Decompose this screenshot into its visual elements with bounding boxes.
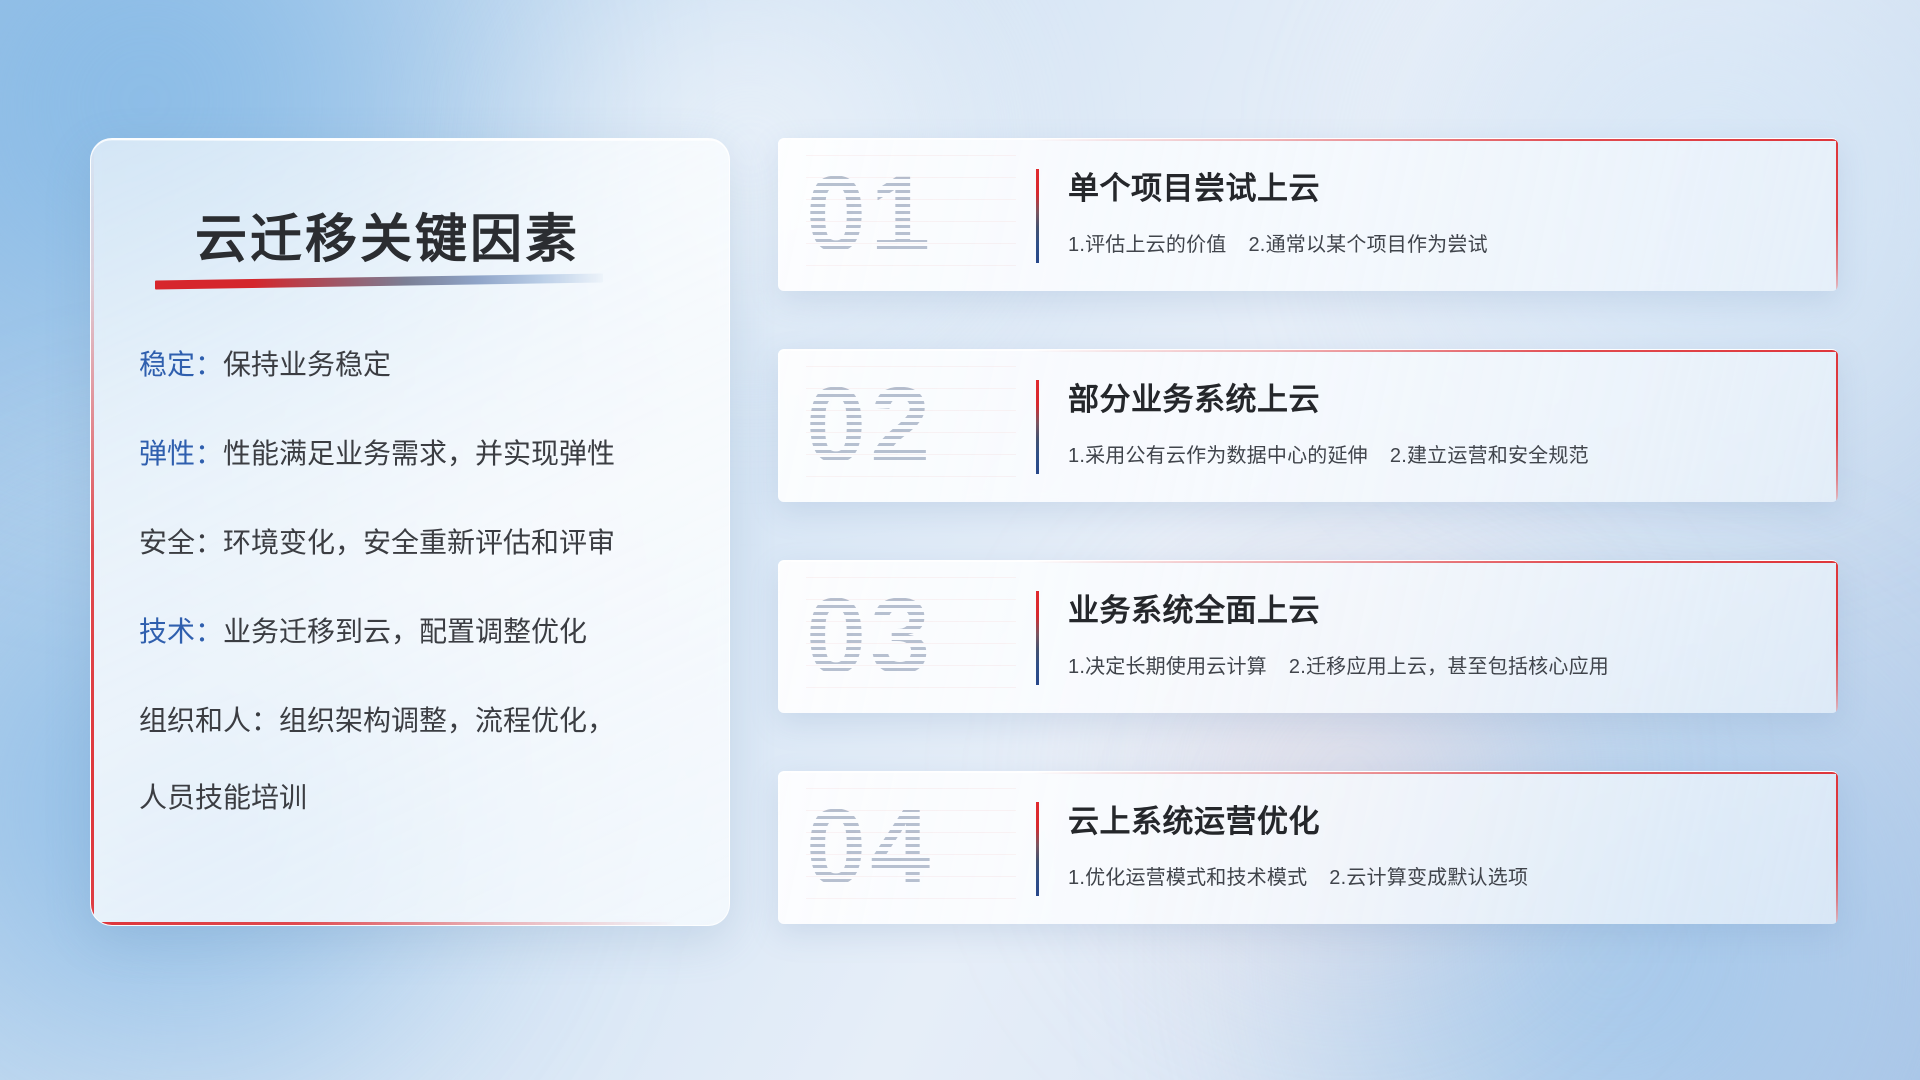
step-point-2: 2.云计算变成默认选项 bbox=[1329, 867, 1528, 889]
step-description: 1.优化运营模式和技术模式2.云计算变成默认选项 bbox=[1068, 861, 1808, 890]
factor-label: 技术： bbox=[139, 616, 223, 647]
step-divider-bar bbox=[1036, 591, 1039, 685]
step-content: 单个项目尝试上云 1.评估上云的价值2.通常以某个项目作为尝试 bbox=[1068, 163, 1808, 257]
key-factors-list: 稳定：保持业务稳定 弹性：性能满足业务需求，并实现弹性 安全：环境变化，安全重新… bbox=[139, 351, 699, 812]
factor-label: 稳定： bbox=[139, 349, 223, 380]
key-factors-panel: 云迁移关键因素 稳定：保持业务稳定 弹性：性能满足业务需求，并实现弹性 安全：环… bbox=[90, 138, 730, 926]
list-item: 安全：环境变化，安全重新评估和评审 bbox=[139, 529, 699, 557]
panel-top-highlight bbox=[91, 139, 729, 141]
step-card-02[interactable]: 02 部分业务系统上云 1.采用公有云作为数据中心的延伸2.建立运营和安全规范 bbox=[778, 349, 1838, 502]
slide-canvas: 云迁移关键因素 稳定：保持业务稳定 弹性：性能满足业务需求，并实现弹性 安全：环… bbox=[0, 0, 1920, 1080]
card-top-accent-line bbox=[1032, 139, 1838, 141]
factor-text: 组织架构调整，流程优化， bbox=[279, 705, 615, 736]
step-divider-bar bbox=[1036, 169, 1039, 263]
panel-left-accent-line bbox=[91, 139, 94, 925]
step-description: 1.评估上云的价值2.通常以某个项目作为尝试 bbox=[1068, 228, 1808, 257]
card-right-accent-line bbox=[1836, 139, 1838, 291]
step-number-glyph: 03 bbox=[806, 577, 1016, 695]
step-point-1: 1.优化运营模式和技术模式 bbox=[1068, 867, 1307, 889]
step-number-glyph: 04 bbox=[806, 788, 1016, 906]
step-point-1: 1.采用公有云作为数据中心的延伸 bbox=[1068, 445, 1368, 467]
step-title: 部分业务系统上云 bbox=[1068, 374, 1808, 419]
title-underline-gradient bbox=[155, 273, 603, 289]
factor-text: 性能满足业务需求，并实现弹性 bbox=[223, 438, 615, 469]
step-number-glyph: 01 bbox=[806, 155, 1016, 273]
step-point-2: 2.迁移应用上云，甚至包括核心应用 bbox=[1289, 656, 1609, 678]
step-point-1: 1.评估上云的价值 bbox=[1068, 234, 1226, 256]
step-title: 单个项目尝试上云 bbox=[1068, 163, 1808, 208]
step-card-04[interactable]: 04 云上系统运营优化 1.优化运营模式和技术模式2.云计算变成默认选项 bbox=[778, 771, 1838, 924]
step-point-2: 2.通常以某个项目作为尝试 bbox=[1248, 234, 1487, 256]
card-right-accent-line bbox=[1836, 772, 1838, 924]
card-top-accent-line bbox=[1032, 772, 1838, 774]
card-left-highlight bbox=[778, 139, 780, 291]
page-title: 云迁移关键因素 bbox=[195, 197, 580, 272]
step-number-glyph: 02 bbox=[806, 366, 1016, 484]
factor-label: 弹性： bbox=[139, 438, 223, 469]
step-content: 部分业务系统上云 1.采用公有云作为数据中心的延伸2.建立运营和安全规范 bbox=[1068, 374, 1808, 468]
factor-text: 人员技能培训 bbox=[139, 782, 307, 813]
list-item: 技术：业务迁移到云，配置调整优化 bbox=[139, 618, 699, 646]
step-description: 1.决定长期使用云计算2.迁移应用上云，甚至包括核心应用 bbox=[1068, 650, 1808, 679]
step-card-03[interactable]: 03 业务系统全面上云 1.决定长期使用云计算2.迁移应用上云，甚至包括核心应用 bbox=[778, 560, 1838, 713]
migration-steps-list: 01 单个项目尝试上云 1.评估上云的价值2.通常以某个项目作为尝试 02 部分… bbox=[778, 138, 1838, 924]
factor-text: 保持业务稳定 bbox=[223, 349, 391, 380]
list-item: 弹性：性能满足业务需求，并实现弹性 bbox=[139, 440, 699, 468]
step-point-1: 1.决定长期使用云计算 bbox=[1068, 656, 1267, 678]
step-point-2: 2.建立运营和安全规范 bbox=[1390, 445, 1589, 467]
step-title: 业务系统全面上云 bbox=[1068, 585, 1808, 630]
card-left-highlight bbox=[778, 350, 780, 502]
card-right-accent-line bbox=[1836, 350, 1838, 502]
factor-label: 组织和人： bbox=[139, 705, 279, 736]
step-divider-bar bbox=[1036, 380, 1039, 474]
card-right-accent-line bbox=[1836, 561, 1838, 713]
card-left-highlight bbox=[778, 561, 780, 713]
factor-text: 环境变化，安全重新评估和评审 bbox=[223, 527, 615, 558]
step-title: 云上系统运营优化 bbox=[1068, 796, 1808, 841]
card-left-highlight bbox=[778, 772, 780, 924]
card-top-accent-line bbox=[1032, 561, 1838, 563]
step-content: 业务系统全面上云 1.决定长期使用云计算2.迁移应用上云，甚至包括核心应用 bbox=[1068, 585, 1808, 679]
step-content: 云上系统运营优化 1.优化运营模式和技术模式2.云计算变成默认选项 bbox=[1068, 796, 1808, 890]
list-item: 组织和人：组织架构调整，流程优化， bbox=[139, 707, 699, 735]
card-top-accent-line bbox=[1032, 350, 1838, 352]
factor-label: 安全： bbox=[139, 527, 223, 558]
step-description: 1.采用公有云作为数据中心的延伸2.建立运营和安全规范 bbox=[1068, 439, 1808, 468]
step-card-01[interactable]: 01 单个项目尝试上云 1.评估上云的价值2.通常以某个项目作为尝试 bbox=[778, 138, 1838, 291]
factor-text: 业务迁移到云，配置调整优化 bbox=[223, 616, 587, 647]
panel-bottom-accent-line bbox=[91, 922, 729, 925]
list-item-continuation: 人员技能培训 bbox=[139, 784, 699, 812]
step-divider-bar bbox=[1036, 802, 1039, 896]
list-item: 稳定：保持业务稳定 bbox=[139, 351, 699, 379]
